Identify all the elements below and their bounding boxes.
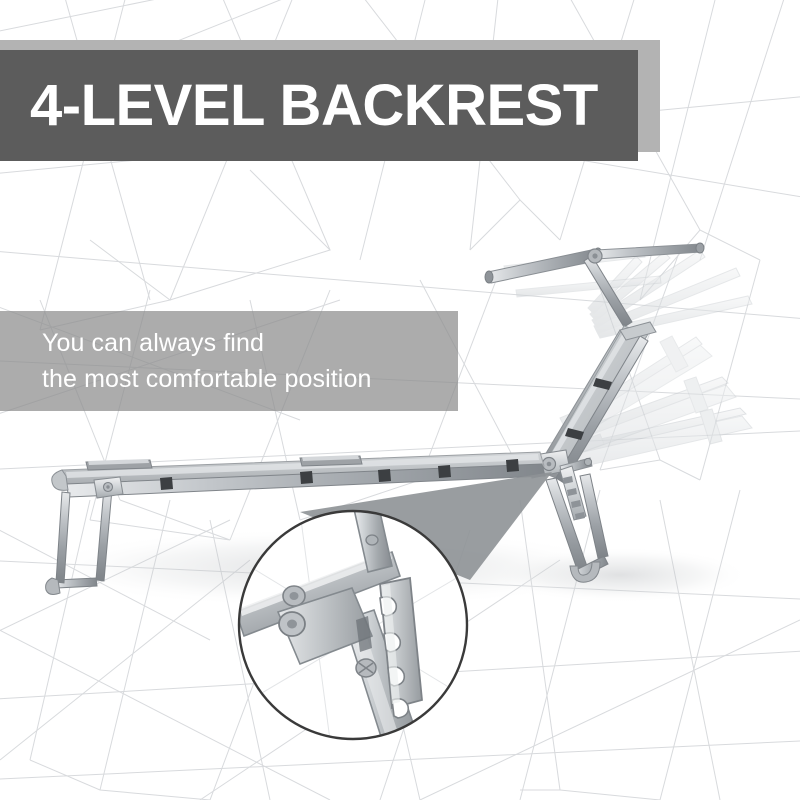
page-title: 4-LEVEL BACKREST bbox=[0, 77, 598, 135]
subtitle-text: You can always find the most comfortable… bbox=[42, 326, 462, 397]
headline-banner: 4-LEVEL BACKREST bbox=[0, 50, 638, 161]
product-marketing-image: 4-LEVEL BACKREST You can always find the… bbox=[0, 0, 800, 800]
